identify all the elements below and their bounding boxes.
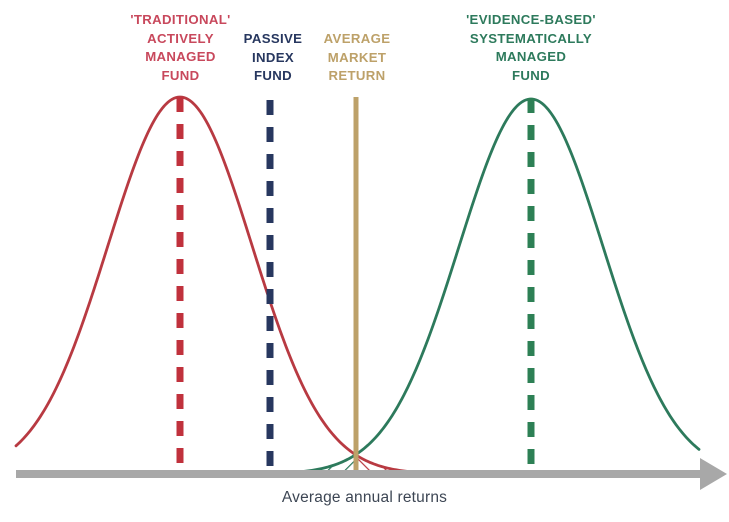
label-evidence-based-fund: 'EVIDENCE-BASED' SYSTEMATICALLY MANAGED … xyxy=(440,11,622,85)
label-line: SYSTEMATICALLY xyxy=(440,30,622,49)
label-line: INDEX xyxy=(228,49,318,68)
label-line: PASSIVE xyxy=(228,30,318,49)
label-line: FUND xyxy=(228,67,318,86)
label-line: 'TRADITIONAL' xyxy=(123,11,238,30)
label-actively-managed-fund: 'TRADITIONAL' ACTIVELY MANAGED FUND xyxy=(123,11,238,85)
label-line: 'EVIDENCE-BASED' xyxy=(440,11,622,30)
label-average-market-return: AVERAGE MARKET RETURN xyxy=(312,30,402,86)
label-line: FUND xyxy=(440,67,622,86)
x-axis-arrowhead xyxy=(700,458,727,490)
curve-evidence-based-fund xyxy=(170,99,699,474)
label-passive-index-fund: PASSIVE INDEX FUND xyxy=(228,30,318,86)
label-line: ACTIVELY xyxy=(123,30,238,49)
label-line: AVERAGE xyxy=(312,30,402,49)
label-line: MARKET xyxy=(312,49,402,68)
label-line: RETURN xyxy=(312,67,402,86)
x-axis-caption: Average annual returns xyxy=(0,489,729,507)
label-line: FUND xyxy=(123,67,238,86)
chart-container: 'TRADITIONAL' ACTIVELY MANAGED FUND PASS… xyxy=(0,0,729,522)
label-line: MANAGED xyxy=(440,48,622,67)
curve-actively-managed-fund xyxy=(16,97,545,474)
label-line: MANAGED xyxy=(123,48,238,67)
